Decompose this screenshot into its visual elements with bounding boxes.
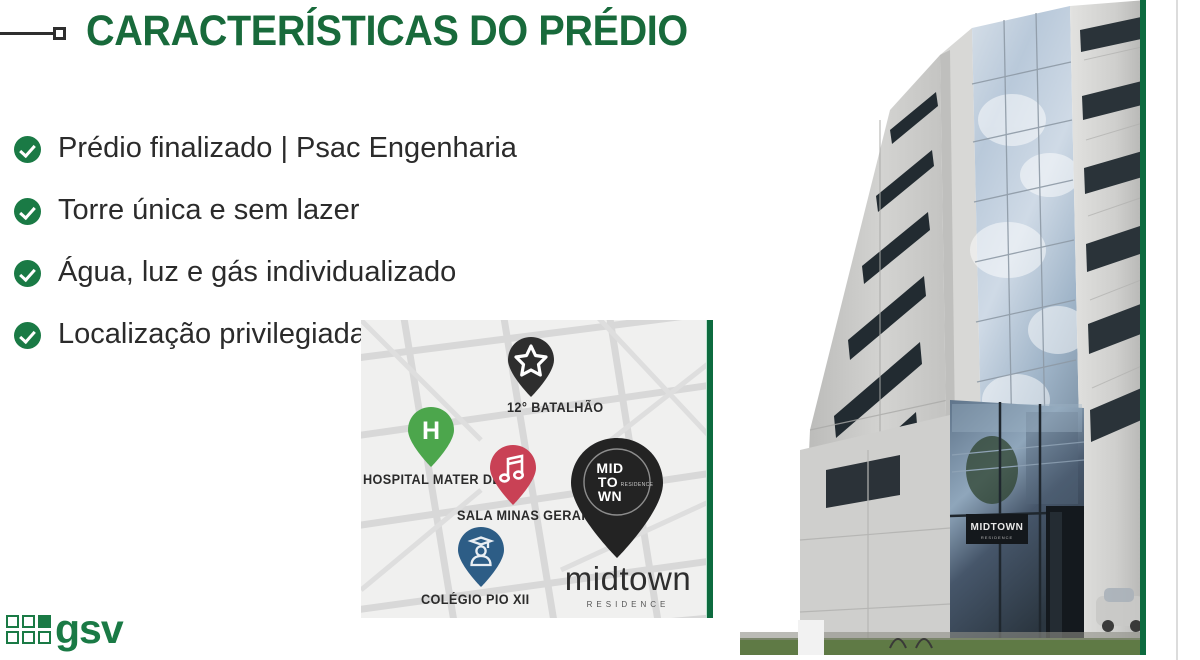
svg-text:WN: WN	[598, 488, 622, 504]
title-rule-line	[0, 32, 53, 35]
list-item-label: Localização privilegiada:	[58, 319, 374, 351]
slide-edge-divider	[1176, 0, 1178, 660]
map-label-colegio: COLÉGIO PIO XII	[421, 592, 530, 607]
gsv-logo-text: gsv	[55, 612, 123, 647]
slide-header: CARACTERÍSTICAS DO PRÉDIO	[0, 0, 740, 62]
hospital-h-pin-icon: H	[407, 406, 455, 468]
title-square-marker-icon	[53, 27, 66, 40]
map-accent-bar	[706, 320, 713, 618]
gsv-grid-cell	[6, 615, 19, 628]
check-circle-icon	[14, 136, 41, 163]
map-pin-colegio[interactable]	[457, 526, 505, 588]
map-pin-sala-minas-gerais[interactable]	[489, 444, 537, 506]
list-item: Água, luz e gás individualizado	[14, 242, 714, 304]
check-circle-icon	[14, 322, 41, 349]
gsv-logo: gsv	[6, 612, 123, 647]
gsv-grid-cell	[22, 631, 35, 644]
music-note-pin-icon	[489, 444, 537, 506]
svg-text:RESIDENCE: RESIDENCE	[621, 482, 654, 488]
building-sign: MIDTOWN RESIDENCE	[966, 514, 1028, 544]
list-item: Torre única e sem lazer	[14, 180, 714, 242]
svg-text:H: H	[422, 417, 440, 445]
building-photo-image: MIDTOWN RESIDENCE	[740, 0, 1146, 655]
gsv-grid-cell-filled	[38, 615, 51, 628]
page-title: CARACTERÍSTICAS DO PRÉDIO	[86, 10, 688, 53]
graduate-pin-icon	[457, 526, 505, 588]
list-item-label: Prédio finalizado | Psac Engenharia	[58, 133, 517, 165]
list-item-label: Torre única e sem lazer	[58, 195, 359, 227]
gsv-logo-grid-icon	[6, 615, 51, 644]
map-pin-midtown[interactable]: MID TO WN RESIDENCE	[569, 436, 665, 560]
check-circle-icon	[14, 260, 41, 287]
location-map: 12° BATALHÃO H HOSPITAL MATER DEI SALA M…	[361, 320, 713, 618]
midtown-wordmark: midtown RESIDENCE	[553, 562, 703, 609]
check-circle-icon	[14, 198, 41, 225]
svg-text:MIDTOWN: MIDTOWN	[971, 522, 1024, 533]
gsv-grid-cell	[22, 615, 35, 628]
midtown-logo-pin-icon: MID TO WN RESIDENCE	[569, 436, 665, 560]
midtown-wordmark-main: midtown	[553, 562, 703, 595]
map-label-batalhao: 12° BATALHÃO	[507, 400, 604, 415]
gsv-grid-cell	[38, 631, 51, 644]
map-label-hospital: HOSPITAL MATER DEI	[363, 472, 505, 487]
building-photo: MIDTOWN RESIDENCE	[740, 0, 1146, 655]
list-item-label: Água, luz e gás individualizado	[58, 257, 456, 289]
photo-accent-bar	[1140, 0, 1146, 655]
map-pin-batalhao[interactable]	[507, 336, 555, 398]
gsv-grid-cell	[6, 631, 19, 644]
slide-canvas: CARACTERÍSTICAS DO PRÉDIO Prédio finaliz…	[0, 0, 1200, 660]
svg-text:RESIDENCE: RESIDENCE	[981, 535, 1013, 540]
list-item: Prédio finalizado | Psac Engenharia	[14, 118, 714, 180]
map-pin-hospital[interactable]: H	[407, 406, 455, 468]
midtown-wordmark-sub: RESIDENCE	[553, 600, 703, 609]
star-pin-icon	[507, 336, 555, 398]
